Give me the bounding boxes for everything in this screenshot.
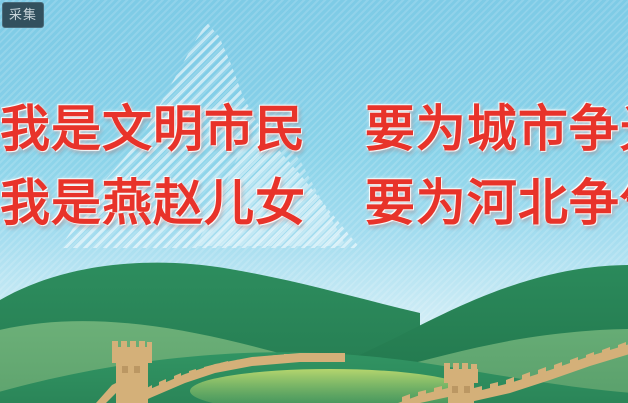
- slogan-line-1-right: 要为城市争光: [365, 100, 628, 158]
- slogan-line-2-left: 我是燕赵儿女: [0, 174, 306, 232]
- banner-canvas: 我是文明市民 要为城市争光 我是燕赵儿女 要为河北争气 采集: [0, 0, 628, 403]
- landscape-illustration: [0, 243, 628, 403]
- slogan-block: 我是文明市民 要为城市争光 我是燕赵儿女 要为河北争气: [0, 92, 628, 240]
- slogan-line-2: 我是燕赵儿女 要为河北争气: [0, 166, 628, 240]
- capture-button[interactable]: 采集: [2, 2, 44, 28]
- slogan-line-2-right: 要为河北争气: [365, 174, 628, 232]
- slogan-line-1: 我是文明市民 要为城市争光: [0, 92, 628, 166]
- slogan-line-1-left: 我是文明市民: [0, 100, 306, 158]
